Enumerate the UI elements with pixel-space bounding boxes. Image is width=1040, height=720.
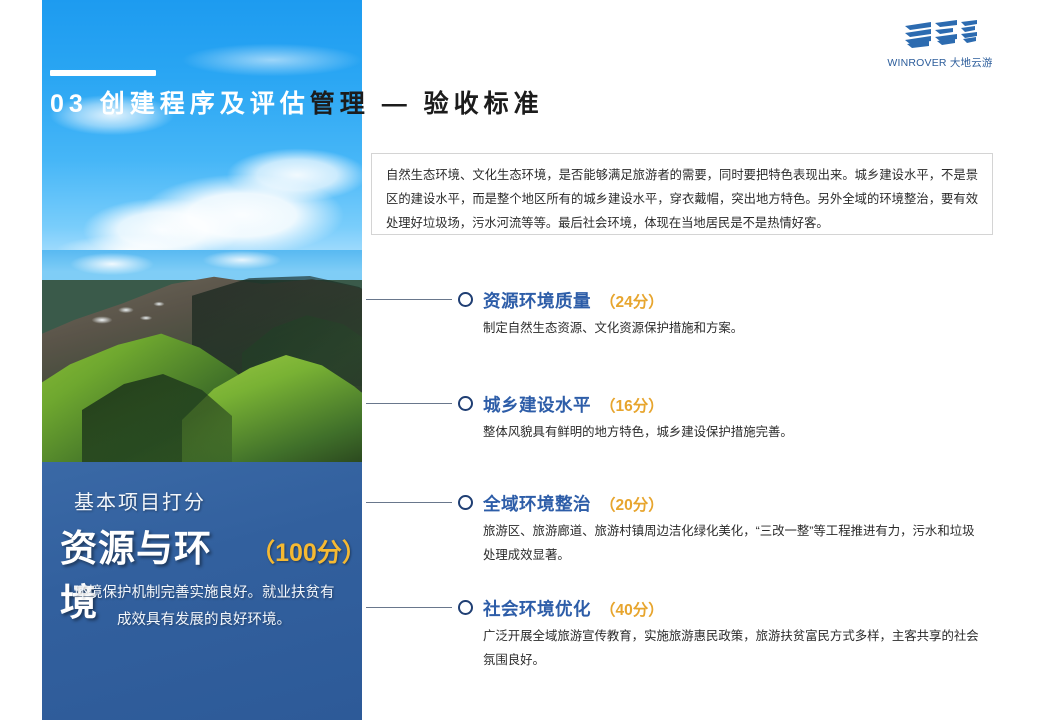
- criterion-heading: 资源环境质量 （24分）: [483, 288, 664, 313]
- connector-line: [366, 299, 452, 300]
- criterion-heading: 全域环境整治 （20分）: [483, 491, 664, 516]
- connector-line: [366, 502, 452, 503]
- winrover-logo-mark: [901, 20, 979, 52]
- criterion-body: 制定自然生态资源、文化资源保护措施和方案。: [483, 316, 983, 340]
- photo-sky-region: [42, 0, 362, 258]
- page-title-part-1: 03 创建程序及评估: [50, 90, 310, 118]
- summary-card-description: 环境保护机制完善实施良好。就业扶贫有成效具有发展的良好环境。: [70, 580, 338, 634]
- criterion-title: 全域环境整治: [483, 491, 591, 516]
- mountain-snow-patch: [84, 298, 174, 334]
- intro-textbox: 自然生态环境、文化生态环境，是否能够满足旅游者的需要，同时要把特色表现出来。城乡…: [371, 153, 993, 235]
- connector-line: [366, 403, 452, 404]
- brand-logo-text: WINROVER 大地云游: [878, 55, 1002, 70]
- slide-root: 基本项目打分 资源与环境 （100分） 环境保护机制完善实施良好。就业扶贫有成效…: [0, 0, 1040, 720]
- summary-card-score: （100分）: [250, 533, 362, 569]
- criterion-heading: 城乡建设水平 （16分）: [483, 392, 664, 417]
- criterion-score: （40分）: [600, 598, 664, 620]
- criterion-score: （24分）: [600, 290, 664, 312]
- photo-mountain-region: [42, 250, 362, 465]
- criterion-title: 资源环境质量: [483, 288, 591, 313]
- criterion-body: 旅游区、旅游廊道、旅游村镇周边洁化绿化美化，“三改一整”等工程推进有力，污水和垃…: [483, 519, 983, 567]
- bullet-ring-icon: [458, 600, 473, 615]
- summary-card-kicker: 基本项目打分: [74, 486, 206, 515]
- bullet-ring-icon: [458, 292, 473, 307]
- page-title-part-2: 管理 — 验收标准: [310, 90, 544, 118]
- criterion-title: 城乡建设水平: [483, 392, 591, 417]
- criterion-body: 整体风貌具有鲜明的地方特色，城乡建设保护措施完善。: [483, 420, 1003, 444]
- bullet-ring-icon: [458, 495, 473, 510]
- header-rule: [50, 70, 156, 76]
- criterion-title: 社会环境优化: [483, 596, 591, 621]
- bullet-ring-icon: [458, 396, 473, 411]
- brand-logo: WINROVER 大地云游: [878, 20, 1002, 70]
- summary-card: 基本项目打分 资源与环境 （100分） 环境保护机制完善实施良好。就业扶贫有成效…: [42, 462, 362, 720]
- criterion-body: 广泛开展全域旅游宣传教育，实施旅游惠民政策，旅游扶贫富民方式多样，主客共享的社会…: [483, 624, 983, 672]
- criterion-score: （16分）: [600, 394, 664, 416]
- page-title: 03 创建程序及评估管理 — 验收标准: [50, 84, 544, 120]
- criterion-score: （20分）: [600, 493, 664, 515]
- criterion-heading: 社会环境优化 （40分）: [483, 596, 664, 621]
- intro-text: 自然生态环境、文化生态环境，是否能够满足旅游者的需要，同时要把特色表现出来。城乡…: [386, 163, 978, 235]
- connector-line: [366, 607, 452, 608]
